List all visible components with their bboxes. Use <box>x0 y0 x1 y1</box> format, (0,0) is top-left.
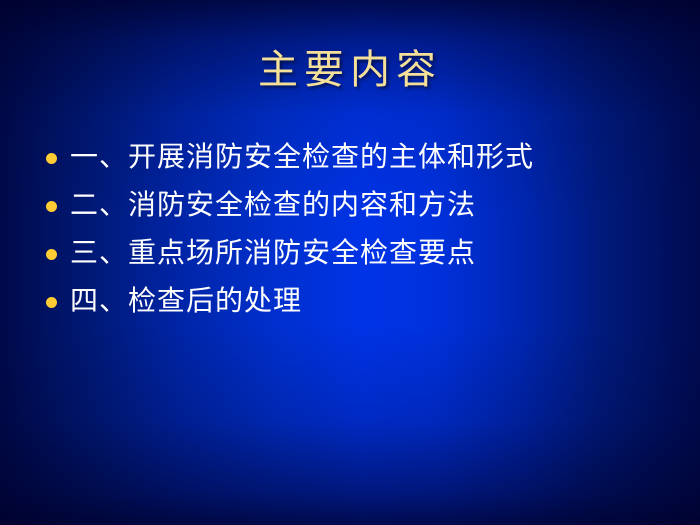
list-item: 三、重点场所消防安全检查要点 <box>46 234 656 272</box>
disc-bullet-icon <box>46 201 57 212</box>
disc-bullet-icon <box>46 249 57 260</box>
slide-title: 主要内容 <box>0 48 700 92</box>
list-item: 四、检查后的处理 <box>46 282 656 320</box>
list-item-label: 四、检查后的处理 <box>70 283 302 319</box>
list-item-label: 三、重点场所消防安全检查要点 <box>70 235 476 271</box>
list-item-label: 一、开展消防安全检查的主体和形式 <box>70 139 534 175</box>
bullet-list: 一、开展消防安全检查的主体和形式 二、消防安全检查的内容和方法 三、重点场所消防… <box>46 138 656 330</box>
presentation-slide: 主要内容 一、开展消防安全检查的主体和形式 二、消防安全检查的内容和方法 三、重… <box>0 0 700 525</box>
disc-bullet-icon <box>46 153 57 164</box>
disc-bullet-icon <box>46 297 57 308</box>
list-item-label: 二、消防安全检查的内容和方法 <box>70 187 476 223</box>
slide-content-area: 主要内容 一、开展消防安全检查的主体和形式 二、消防安全检查的内容和方法 三、重… <box>0 0 700 525</box>
list-item: 二、消防安全检查的内容和方法 <box>46 186 656 224</box>
list-item: 一、开展消防安全检查的主体和形式 <box>46 138 656 176</box>
